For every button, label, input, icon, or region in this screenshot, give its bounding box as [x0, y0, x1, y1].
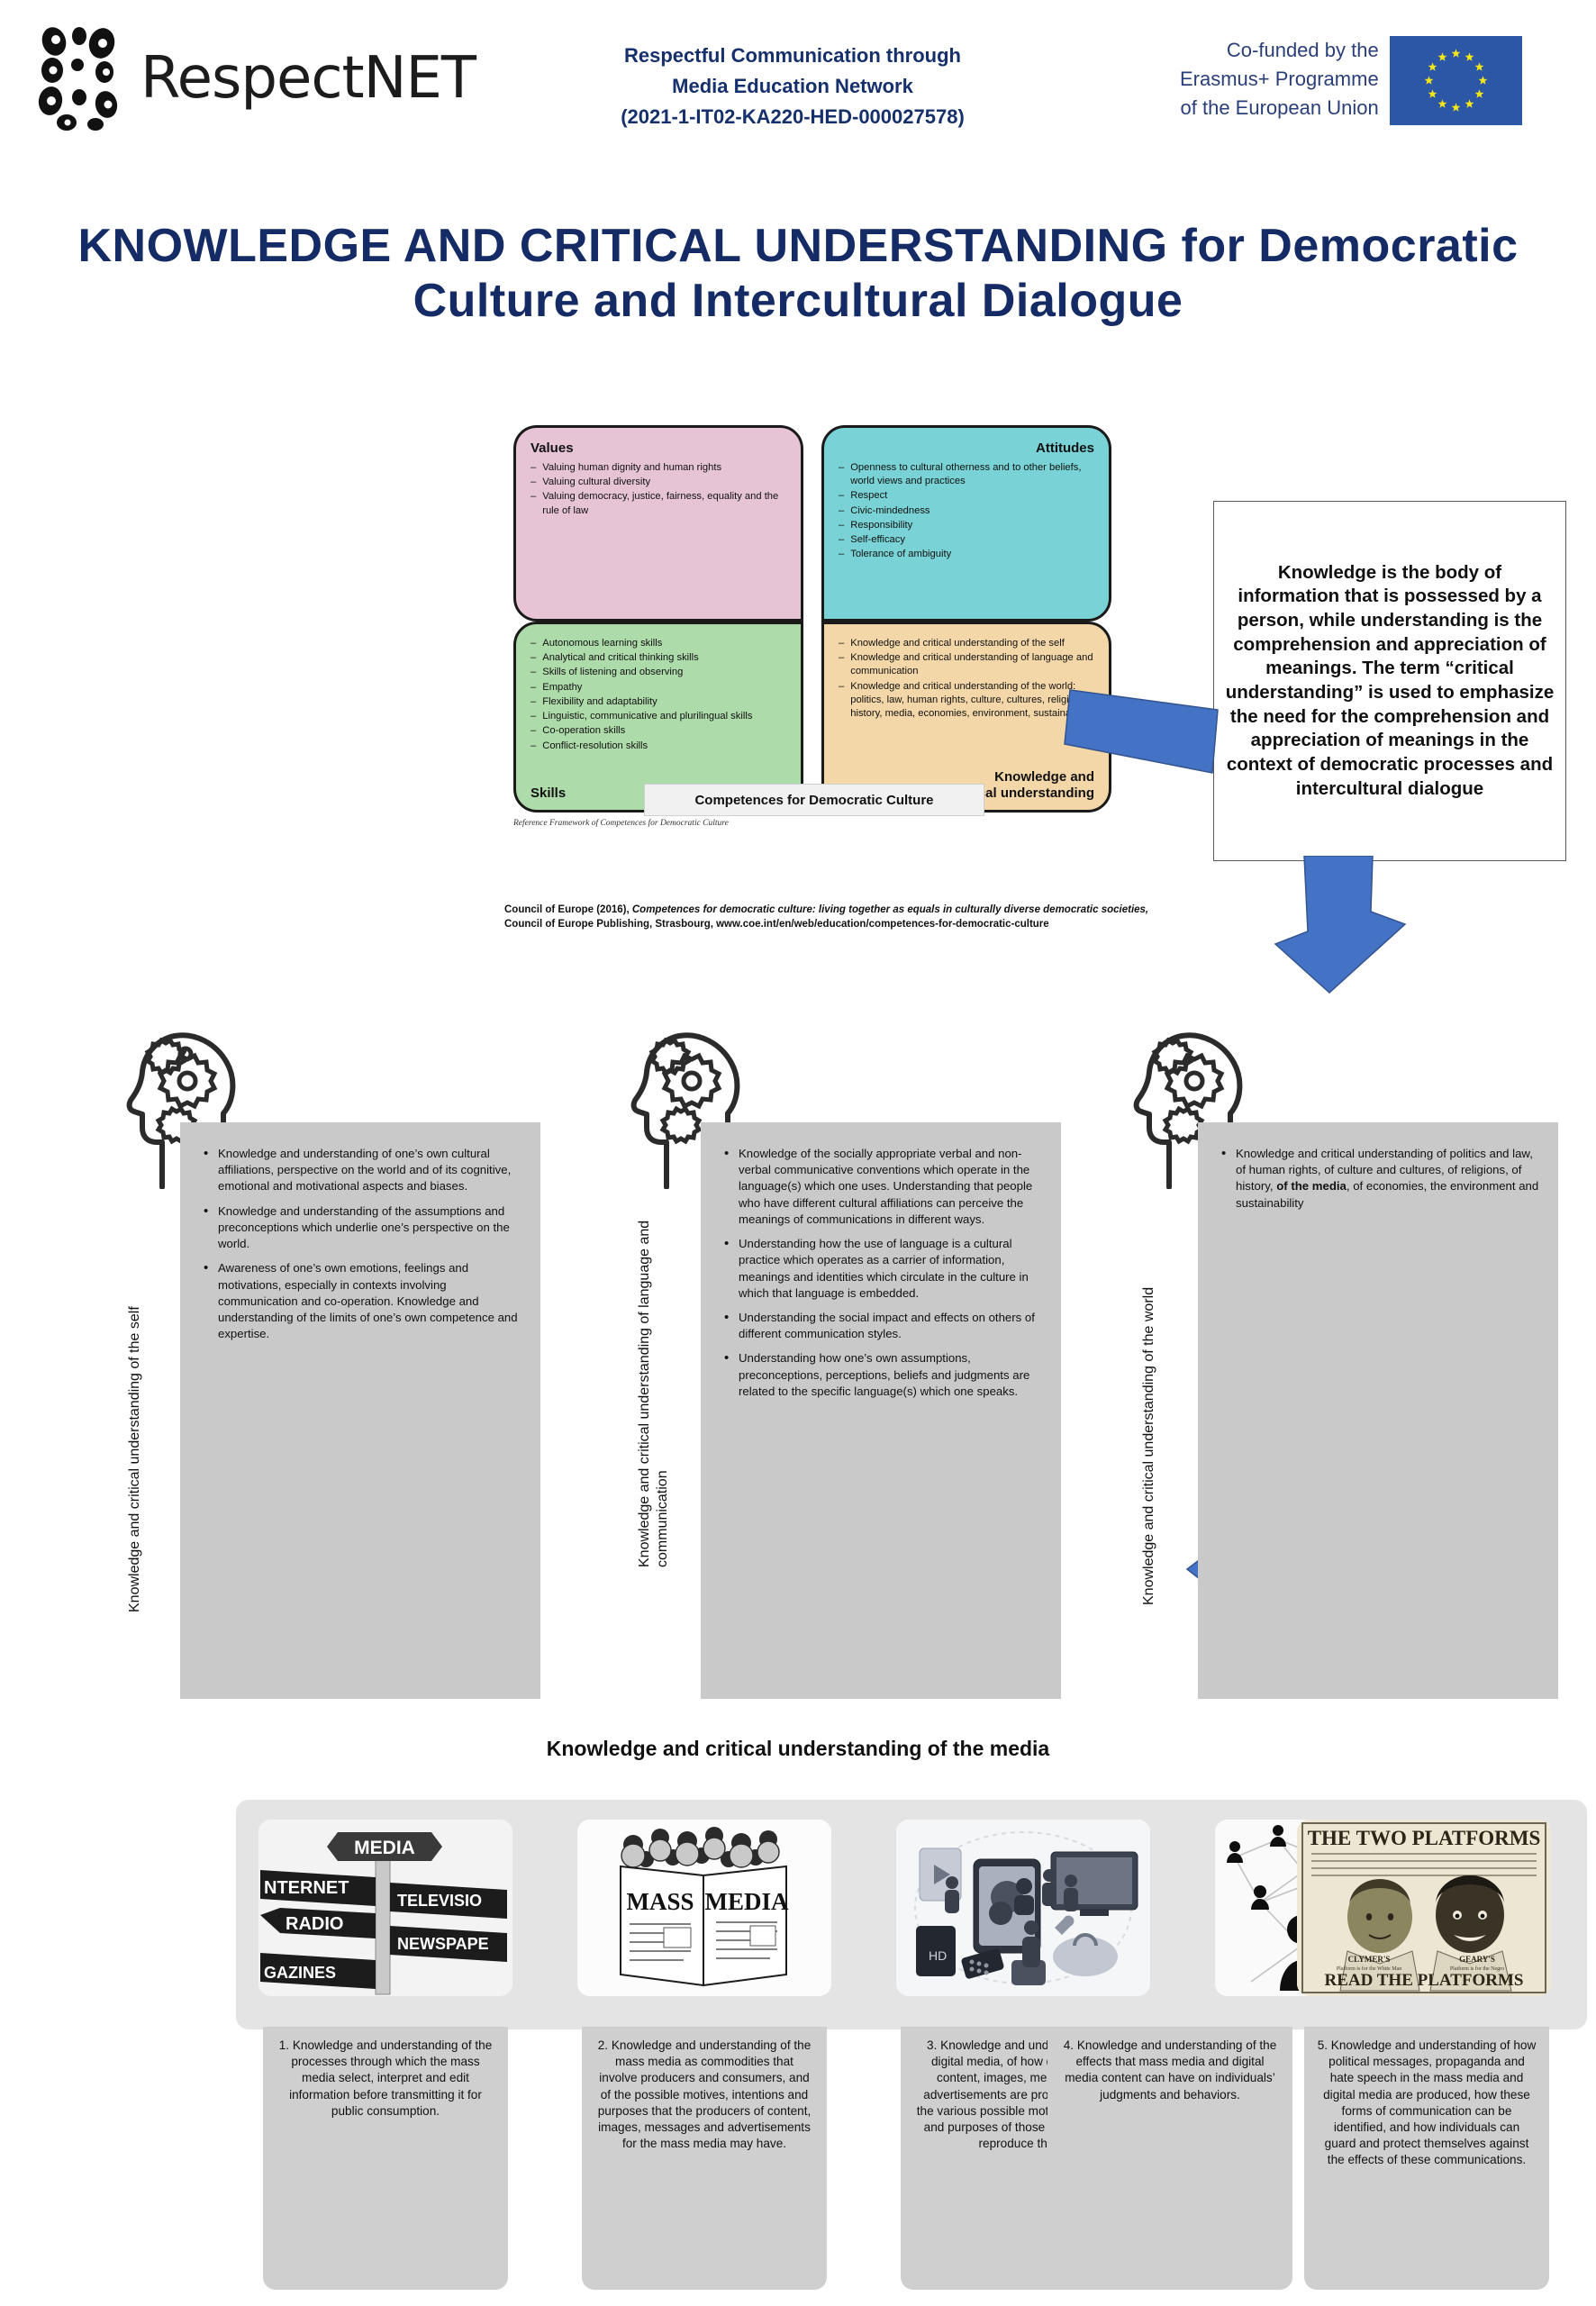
svg-text:NTERNET: NTERNET	[264, 1878, 349, 1898]
column-bullet-item: Knowledge and critical understanding of …	[1221, 1146, 1540, 1212]
respectnet-logo-text: RespectNET	[141, 45, 476, 112]
cdc-knowledge-item-text: Knowledge and critical understanding of …	[850, 651, 1094, 678]
cdc-values-item: –Valuing democracy, justice, fairness, e…	[530, 490, 786, 517]
cdc-values-title: Values	[530, 440, 786, 456]
cdc-attitudes-item-text: Respect	[850, 489, 887, 503]
mass-media-newspaper-image: MASS MEDIA	[577, 1820, 831, 1996]
cdc-skills-item: –Co-operation skills	[530, 724, 786, 738]
eu-funding-text: Co-funded by the Erasmus+ Programme of t…	[1180, 36, 1379, 123]
svg-text:CLYMER'S: CLYMER'S	[1348, 1955, 1391, 1964]
cdc-skills-title: Skills	[530, 785, 566, 801]
cdc-skills-item: –Skills of listening and observing	[530, 666, 786, 679]
column-language-panel: Knowledge of the socially appropriate ve…	[701, 1122, 1061, 1699]
page-title: KNOWLEDGE AND CRITICAL UNDERSTANDING for…	[54, 219, 1542, 330]
cdc-skills-item-text: Skills of listening and observing	[542, 666, 683, 679]
column-self-list: Knowledge and understanding of one’s own…	[180, 1122, 540, 1342]
cdc-skills-item: –Flexibility and adaptability	[530, 695, 786, 709]
cdc-skills-item: –Autonomous learning skills	[530, 637, 786, 650]
cdc-skills-item: –Analytical and critical thinking skills	[530, 651, 786, 665]
dash-bullet-icon: –	[530, 461, 536, 475]
dash-bullet-icon: –	[530, 740, 536, 753]
cdc-attitudes-item: –Responsibility	[839, 519, 1094, 532]
dash-bullet-icon: –	[530, 490, 536, 517]
cdc-values-list: –Valuing human dignity and human rights–…	[530, 461, 786, 518]
eu-funding-line-1: Co-funded by the	[1180, 36, 1379, 65]
column-bullet-item: Knowledge and understanding of one’s own…	[204, 1146, 522, 1195]
svg-text:GEARY'S: GEARY'S	[1459, 1955, 1495, 1964]
column-world-label: Knowledge and critical understanding of …	[1140, 1173, 1158, 1605]
svg-text:MEDIA: MEDIA	[354, 1838, 415, 1858]
respectnet-logo-mark	[36, 25, 133, 132]
cdc-values-item-text: Valuing human dignity and human rights	[542, 461, 721, 475]
cdc-knowledge-item: –Knowledge and critical understanding of…	[839, 651, 1094, 678]
cdc-attitudes-list: –Openness to cultural otherness and to o…	[839, 461, 1094, 562]
cdc-skills-item-text: Co-operation skills	[542, 724, 625, 738]
citation-prefix: Council of Europe (2016),	[504, 904, 632, 915]
cdc-attitudes-item-text: Responsibility	[850, 519, 912, 532]
cdc-attitudes-item-text: Openness to cultural otherness and to ot…	[850, 461, 1094, 488]
dash-bullet-icon: –	[530, 476, 536, 489]
citation-line-2: Council of Europe Publishing, Strasbourg…	[504, 919, 1049, 930]
page-title-text: KNOWLEDGE AND CRITICAL UNDERSTANDING for…	[77, 220, 1518, 327]
cdc-quadrant-attitudes: Attitudes –Openness to cultural othernes…	[821, 425, 1111, 622]
cdc-attitudes-item-text: Civic-mindedness	[850, 504, 929, 518]
dash-bullet-icon: –	[530, 724, 536, 738]
cdc-knowledge-item-text: Knowledge and critical understanding of …	[850, 637, 1065, 650]
knowledge-definition-box: Knowledge is the body of information tha…	[1213, 501, 1566, 861]
dash-bullet-icon: –	[839, 504, 844, 518]
dash-bullet-icon: –	[530, 710, 536, 723]
column-bullet-item: Knowledge of the socially appropriate ve…	[724, 1146, 1043, 1228]
project-title-line-1: Respectful Communication through	[576, 41, 1009, 71]
two-platforms-propaganda-poster-image: THE TWO PLATFORMS CLYMER'S GEARY'S Platf…	[1297, 1820, 1551, 1996]
column-self-label: Knowledge and critical understanding of …	[126, 1180, 144, 1612]
media-card-5: 5. Knowledge and understanding of how po…	[1304, 2027, 1549, 2290]
cdc-attitudes-item: –Openness to cultural otherness and to o…	[839, 461, 1094, 488]
column-world-list: Knowledge and critical understanding of …	[1198, 1122, 1558, 1212]
eu-funding-block: Co-funded by the Erasmus+ Programme of t…	[1180, 36, 1522, 125]
column-bullet-item: Understanding how one’s own assumptions,…	[724, 1350, 1043, 1400]
eu-funding-line-2: Erasmus+ Programme	[1180, 65, 1379, 94]
cdc-knowledge-item: –Knowledge and critical understanding of…	[839, 637, 1094, 650]
cdc-attitudes-item: –Respect	[839, 489, 1094, 503]
dash-bullet-icon: –	[530, 695, 536, 709]
knowledge-definition-text: Knowledge is the body of information tha…	[1225, 561, 1555, 801]
dash-bullet-icon: –	[530, 666, 536, 679]
media-card-2: 2. Knowledge and understanding of the ma…	[582, 2027, 827, 2290]
cdc-skills-item: –Linguistic, communicative and pluriling…	[530, 710, 786, 723]
dash-bullet-icon: –	[839, 519, 844, 532]
cdc-butterfly-diagram: Values –Valuing human dignity and human …	[504, 425, 1117, 876]
cdc-attitudes-item: –Tolerance of ambiguity	[839, 548, 1094, 561]
project-title-line-3: (2021-1-IT02-KA220-HED-000027578)	[576, 102, 1009, 132]
cdc-attitudes-item-text: Tolerance of ambiguity	[850, 548, 951, 561]
svg-text:NEWSPAPE: NEWSPAPE	[397, 1935, 489, 1953]
column-world-panel: Knowledge and critical understanding of …	[1198, 1122, 1558, 1699]
dash-bullet-icon: –	[839, 651, 844, 678]
svg-text:THE TWO PLATFORMS: THE TWO PLATFORMS	[1308, 1827, 1541, 1849]
digital-media-devices-graphic: HD	[896, 1820, 1150, 1996]
svg-text:TELEVISIO: TELEVISIO	[397, 1892, 482, 1910]
cdc-attitudes-item: –Self-efficacy	[839, 533, 1094, 547]
project-title: Respectful Communication through Media E…	[576, 41, 1009, 132]
svg-text:READ THE PLATFORMS: READ THE PLATFORMS	[1325, 1971, 1524, 1990]
cdc-skills-item-text: Conflict-resolution skills	[542, 740, 648, 753]
cdc-citation: Council of Europe (2016), Competences fo…	[504, 903, 1252, 932]
dash-bullet-icon: –	[839, 637, 844, 650]
column-bullet-item: Understanding how the use of language is…	[724, 1236, 1043, 1302]
digital-media-devices-image: HD	[896, 1820, 1150, 1996]
svg-text:MASS: MASS	[626, 1888, 694, 1915]
cdc-attitudes-item-text: Self-efficacy	[850, 533, 905, 547]
arrow-right-icon	[1027, 677, 1225, 785]
media-card-1: 1. Knowledge and understanding of the pr…	[263, 2027, 508, 2290]
media-signpost-image: MEDIA NTERNET TELEVISIO RADIO NEWSPAPE G…	[258, 1820, 512, 1996]
media-signpost-graphic: MEDIA NTERNET TELEVISIO RADIO NEWSPAPE G…	[258, 1820, 512, 1996]
cdc-center-label: Competences for Democratic Culture	[644, 784, 984, 816]
svg-text:GAZINES: GAZINES	[264, 1964, 336, 1982]
media-card-4: 4. Knowledge and understanding of the ef…	[1047, 2027, 1292, 2290]
dash-bullet-icon: –	[839, 489, 844, 503]
eu-flag-icon	[1390, 36, 1522, 125]
eu-funding-line-3: of the European Union	[1180, 94, 1379, 123]
svg-text:HD: HD	[929, 1948, 947, 1963]
column-language-label: Knowledge and critical understanding of …	[636, 1171, 674, 1567]
dash-bullet-icon: –	[839, 461, 844, 488]
cdc-values-item-text: Valuing cultural diversity	[542, 476, 650, 489]
cdc-quadrant-values: Values –Valuing human dignity and human …	[513, 425, 803, 622]
dash-bullet-icon: –	[839, 533, 844, 547]
dash-bullet-icon: –	[530, 681, 536, 695]
respectnet-logo: RespectNET	[36, 25, 476, 132]
page-header: RespectNET Respectful Communication thro…	[0, 0, 1596, 167]
dash-bullet-icon: –	[530, 651, 536, 665]
cdc-attitudes-item: –Civic-mindedness	[839, 504, 1094, 518]
cdc-skills-item-text: Empathy	[542, 681, 582, 695]
column-bullet-item: Awareness of one’s own emotions, feeling…	[204, 1260, 522, 1342]
cdc-skills-list: –Autonomous learning skills–Analytical a…	[530, 637, 786, 753]
arrow-down-icon	[1261, 856, 1423, 1000]
project-title-line-2: Media Education Network	[576, 71, 1009, 102]
cdc-skills-item-text: Flexibility and adaptability	[542, 695, 657, 709]
two-platforms-poster-graphic: THE TWO PLATFORMS CLYMER'S GEARY'S Platf…	[1297, 1820, 1551, 1996]
cdc-skills-item: –Empathy	[530, 681, 786, 695]
cdc-skills-item-text: Autonomous learning skills	[542, 637, 662, 650]
cdc-skills-item: –Conflict-resolution skills	[530, 740, 786, 753]
svg-text:MEDIA: MEDIA	[705, 1888, 789, 1915]
dash-bullet-icon: –	[839, 680, 844, 722]
cdc-framework-caption: Reference Framework of Competences for D…	[513, 819, 729, 828]
mass-media-newspaper-graphic: MASS MEDIA	[577, 1820, 831, 1996]
cdc-skills-item-text: Analytical and critical thinking skills	[542, 651, 698, 665]
cdc-values-item: –Valuing cultural diversity	[530, 476, 786, 489]
column-bullet-item: Knowledge and understanding of the assum…	[204, 1203, 522, 1253]
cdc-skills-item-text: Linguistic, communicative and plurilingu…	[542, 710, 752, 723]
dash-bullet-icon: –	[530, 637, 536, 650]
column-language-list: Knowledge of the socially appropriate ve…	[701, 1122, 1061, 1400]
cdc-attitudes-title: Attitudes	[839, 440, 1094, 456]
cdc-values-item: –Valuing human dignity and human rights	[530, 461, 786, 475]
dash-bullet-icon: –	[839, 548, 844, 561]
column-self-panel: Knowledge and understanding of one’s own…	[180, 1122, 540, 1699]
cdc-values-item-text: Valuing democracy, justice, fairness, eq…	[542, 490, 786, 517]
media-section-heading: Knowledge and critical understanding of …	[0, 1737, 1596, 1761]
citation-title: Competences for democratic culture: livi…	[632, 904, 1148, 915]
svg-text:RADIO: RADIO	[286, 1914, 343, 1934]
column-bullet-item: Understanding the social impact and effe…	[724, 1310, 1043, 1342]
